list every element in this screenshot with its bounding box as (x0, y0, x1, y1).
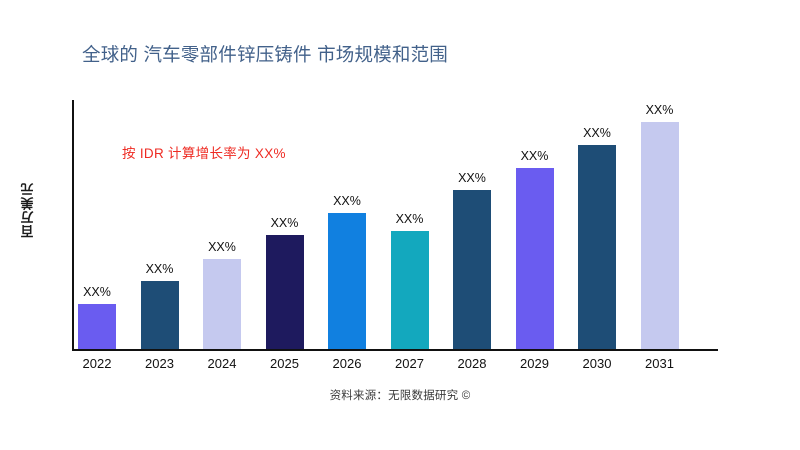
bar-group: XX% (203, 241, 241, 350)
x-tick-2027: 2027 (375, 356, 445, 371)
bar-group: XX% (266, 217, 304, 350)
bar-2024[interactable] (203, 259, 241, 349)
bar-2031[interactable] (641, 122, 679, 349)
x-tick-2023: 2023 (125, 356, 195, 371)
x-tick-2028: 2028 (437, 356, 507, 371)
bar-value-label: XX% (208, 241, 236, 254)
bar-2023[interactable] (141, 281, 179, 349)
bar-value-label: XX% (83, 286, 111, 299)
bar-group: XX% (641, 104, 679, 350)
x-tick-2024: 2024 (187, 356, 257, 371)
bar-value-label: XX% (146, 263, 174, 276)
bar-group: XX% (328, 195, 366, 350)
chart-canvas: 全球的 汽车零部件锌压铸件 市场规模和范围 百万美元 按 IDR 计算增长率为 … (0, 0, 800, 450)
bar-2026[interactable] (328, 213, 366, 349)
plot-area: XX%XX%XX%XX%XX%XX%XX%XX%XX%XX% (72, 100, 718, 349)
bar-group: XX% (141, 263, 179, 350)
source-note: 资料来源：无限数据研究 © (0, 387, 800, 403)
bar-2029[interactable] (516, 168, 554, 349)
bar-group: XX% (453, 172, 491, 350)
bar-2027[interactable] (391, 231, 429, 349)
x-tick-2030: 2030 (562, 356, 632, 371)
bar-2025[interactable] (266, 235, 304, 349)
bar-value-label: XX% (396, 213, 424, 226)
y-axis-label: 百万美元 (14, 150, 42, 270)
bar-value-label: XX% (271, 217, 299, 230)
bar-2022[interactable] (78, 304, 116, 349)
bar-value-label: XX% (646, 104, 674, 117)
bar-group: XX% (578, 127, 616, 350)
x-tick-2026: 2026 (312, 356, 382, 371)
page-title: 全球的 汽车零部件锌压铸件 市场规模和范围 (82, 41, 448, 67)
x-tick-2025: 2025 (250, 356, 320, 371)
bar-2030[interactable] (578, 145, 616, 349)
bar-group: XX% (391, 213, 429, 350)
y-axis-line (72, 100, 74, 349)
bar-value-label: XX% (521, 150, 549, 163)
x-axis-line (72, 349, 718, 351)
bar-value-label: XX% (333, 195, 361, 208)
bar-group: XX% (516, 150, 554, 350)
x-tick-2029: 2029 (500, 356, 570, 371)
x-tick-2031: 2031 (625, 356, 695, 371)
x-tick-2022: 2022 (62, 356, 132, 371)
bar-value-label: XX% (583, 127, 611, 140)
bar-group: XX% (78, 286, 116, 350)
bar-2028[interactable] (453, 190, 491, 349)
bar-value-label: XX% (458, 172, 486, 185)
